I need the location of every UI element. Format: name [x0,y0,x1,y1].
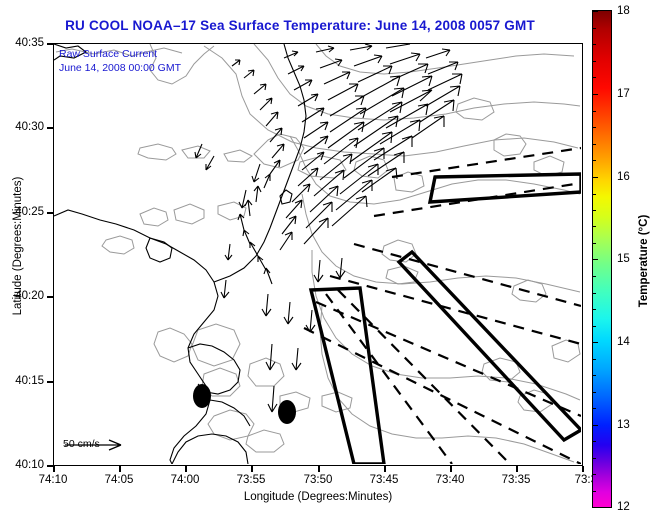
annotation-line-2: June 14, 2008 00:00 GMT [59,61,181,75]
cb-tick-18 [592,11,598,12]
cb-minor-15 [592,326,596,327]
coastline [54,44,306,464]
cb-minor-7 [592,160,596,161]
x-tick-4 [318,466,320,472]
cb-minor-9 [592,210,596,211]
y-label-5: 40:10 [15,459,44,471]
x-axis-title: Longitude (Degrees:Minutes) [53,491,583,503]
x-label-1: 74:05 [105,474,134,486]
cb-tick-16 [592,177,598,178]
x-label-3: 73:55 [237,474,266,486]
cb-tick-12 [592,507,598,508]
cb-minor-8 [592,194,596,195]
cb-minor-1 [592,44,596,45]
map-graphics [54,44,581,464]
y-tick-0 [47,43,53,45]
map-plot-area[interactable]: Raw Surface Current June 14, 2008 00:00 … [53,43,583,466]
y-tick-5 [47,465,53,467]
sst-map-figure: RU COOL NOAA–17 Sea Surface Temperature:… [0,0,651,519]
x-label-0: 74:10 [39,474,68,486]
cb-minor-17 [592,375,596,376]
cb-label-14: 14 [617,336,630,348]
y-tick-1 [47,127,53,129]
velocity-scale-bar: 50 cm/s [63,438,100,451]
cb-label-12: 12 [617,501,630,513]
cb-tick-17 [592,94,598,95]
cb-minor-20 [592,441,596,442]
cb-minor-6 [592,144,596,145]
cb-minor-3 [592,77,596,78]
x-tick-8 [582,466,584,472]
cb-minor-13 [592,293,596,294]
x-label-7: 73:35 [502,474,531,486]
x-label-4: 73:50 [304,474,333,486]
cb-tick-14 [592,342,598,343]
cb-minor-4 [592,111,596,112]
x-tick-0 [53,466,55,472]
cb-minor-5 [592,127,596,128]
cb-minor-21 [592,458,596,459]
survey-track-boxes [311,174,581,464]
x-tick-2 [185,466,187,472]
x-label-6: 73:40 [436,474,465,486]
x-label-2: 74:00 [171,474,200,486]
cb-minor-18 [592,392,596,393]
cb-minor-0 [592,28,596,29]
annotation-line-1: Raw Surface Current [59,47,181,61]
x-tick-6 [450,466,452,472]
cb-minor-19 [592,408,596,409]
x-tick-3 [251,466,253,472]
cb-tick-13 [592,425,598,426]
y-tick-4 [47,381,53,383]
figure-title: RU COOL NOAA–17 Sea Surface Temperature:… [0,18,600,33]
y-label-0: 40:35 [15,37,44,49]
cb-tick-15 [592,259,598,260]
y-axis-title: Latitude (Degrees:Minutes) [12,136,24,356]
x-label-5: 73:45 [370,474,399,486]
sst-contour-group [56,44,580,462]
cb-minor-11 [592,243,596,244]
current-annotation: Raw Surface Current June 14, 2008 00:00 … [59,47,181,75]
x-tick-1 [119,466,121,472]
station-marker-1 [193,384,211,408]
x-tick-7 [516,466,518,472]
x-tick-5 [384,466,386,472]
cb-label-17: 17 [617,88,630,100]
colorbar-title: Temperature (°C) [638,181,650,341]
cb-minor-16 [592,359,596,360]
y-label-1: 40:30 [15,121,44,133]
cb-label-16: 16 [617,171,630,183]
cb-minor-22 [592,474,596,475]
cb-minor-2 [592,61,596,62]
y-label-4: 40:15 [15,375,44,387]
cb-label-15: 15 [617,253,630,265]
cb-minor-23 [592,491,596,492]
cb-label-13: 13 [617,419,630,431]
y-tick-3 [47,296,53,298]
cb-minor-12 [592,276,596,277]
cb-minor-10 [592,226,596,227]
y-tick-2 [47,212,53,214]
scale-bar-arrow-icon [63,438,133,452]
cb-minor-14 [592,309,596,310]
station-markers [193,384,296,424]
station-marker-2 [278,400,296,424]
cb-label-18: 18 [617,5,630,17]
